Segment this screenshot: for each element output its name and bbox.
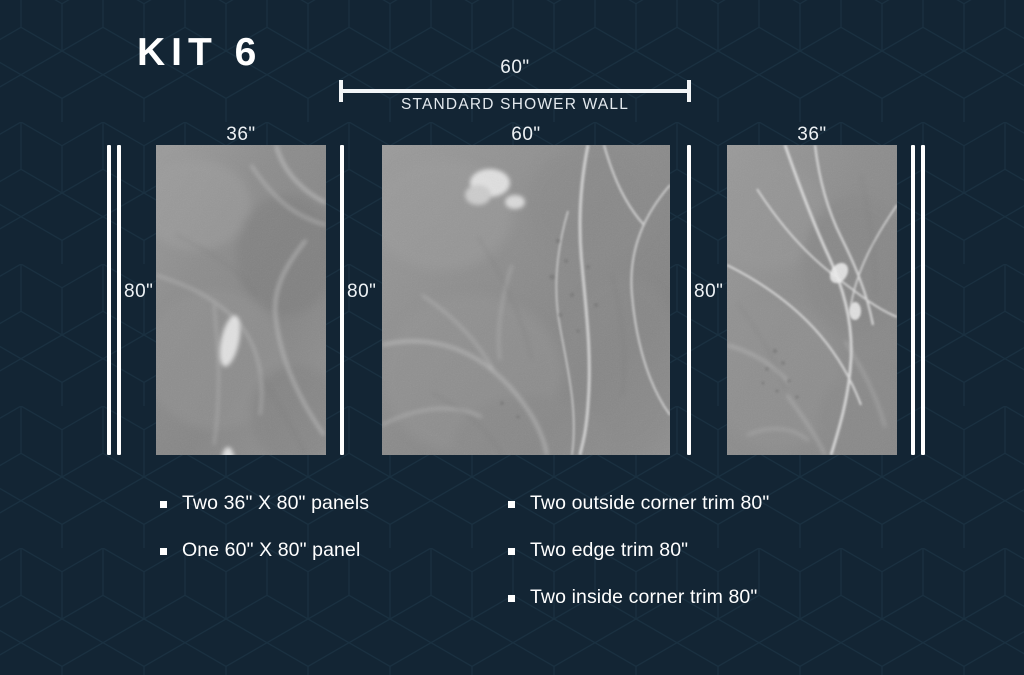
- spec-list-left: Two 36" X 80" panels One 60" X 80" panel: [160, 492, 540, 582]
- marble-texture-center: [382, 145, 670, 455]
- list-item-label: Two edge trim 80": [530, 539, 688, 562]
- panel-center-60x80: [382, 145, 670, 455]
- bullet-square-icon: [160, 548, 167, 555]
- standard-shower-wall-dimension: 60" STANDARD SHOWER WALL: [339, 70, 691, 116]
- bullet-square-icon: [508, 548, 515, 555]
- list-item-label: One 60" X 80" panel: [182, 539, 360, 562]
- marble-texture-right: [727, 145, 897, 455]
- panel-right-height-label: 80": [694, 281, 723, 303]
- panel-right-36x80: [727, 145, 897, 455]
- trim-outside-corner-far-left-b: [117, 145, 121, 455]
- spec-list-right: Two outside corner trim 80" Two edge tri…: [508, 492, 928, 632]
- panel-right-width-label: 36": [727, 124, 897, 146]
- bullet-square-icon: [160, 501, 167, 508]
- list-item: One 60" X 80" panel: [160, 539, 360, 562]
- marble-texture-left: [156, 145, 326, 455]
- panel-left-height-label: 80": [124, 281, 153, 303]
- trim-inside-corner-right: [687, 145, 691, 455]
- trim-inside-corner-left: [340, 145, 344, 455]
- bullet-square-icon: [508, 595, 515, 602]
- trim-outside-corner-far-right-b: [921, 145, 925, 455]
- list-item: Two 36" X 80" panels: [160, 492, 369, 515]
- panel-center-height-label: 80": [347, 281, 376, 303]
- top-dimension-value: 60": [339, 57, 691, 79]
- list-item-label: Two 36" X 80" panels: [182, 492, 369, 515]
- kit-diagram-canvas: KIT 6 60" STANDARD SHOWER WALL: [0, 0, 1024, 675]
- top-dimension-caption: STANDARD SHOWER WALL: [339, 96, 691, 114]
- list-item: Two inside corner trim 80": [508, 586, 757, 609]
- bullet-square-icon: [508, 501, 515, 508]
- trim-outside-corner-far-left-a: [107, 145, 111, 455]
- panel-left-36x80: [156, 145, 326, 455]
- list-item: Two outside corner trim 80": [508, 492, 769, 515]
- list-item: Two edge trim 80": [508, 539, 688, 562]
- list-item-label: Two inside corner trim 80": [530, 586, 757, 609]
- trim-outside-corner-far-right-a: [911, 145, 915, 455]
- panel-left-width-label: 36": [156, 124, 326, 146]
- panel-center-width-label: 60": [382, 124, 670, 146]
- list-item-label: Two outside corner trim 80": [530, 492, 769, 515]
- dimension-line: [339, 89, 691, 93]
- page-title: KIT 6: [137, 33, 262, 72]
